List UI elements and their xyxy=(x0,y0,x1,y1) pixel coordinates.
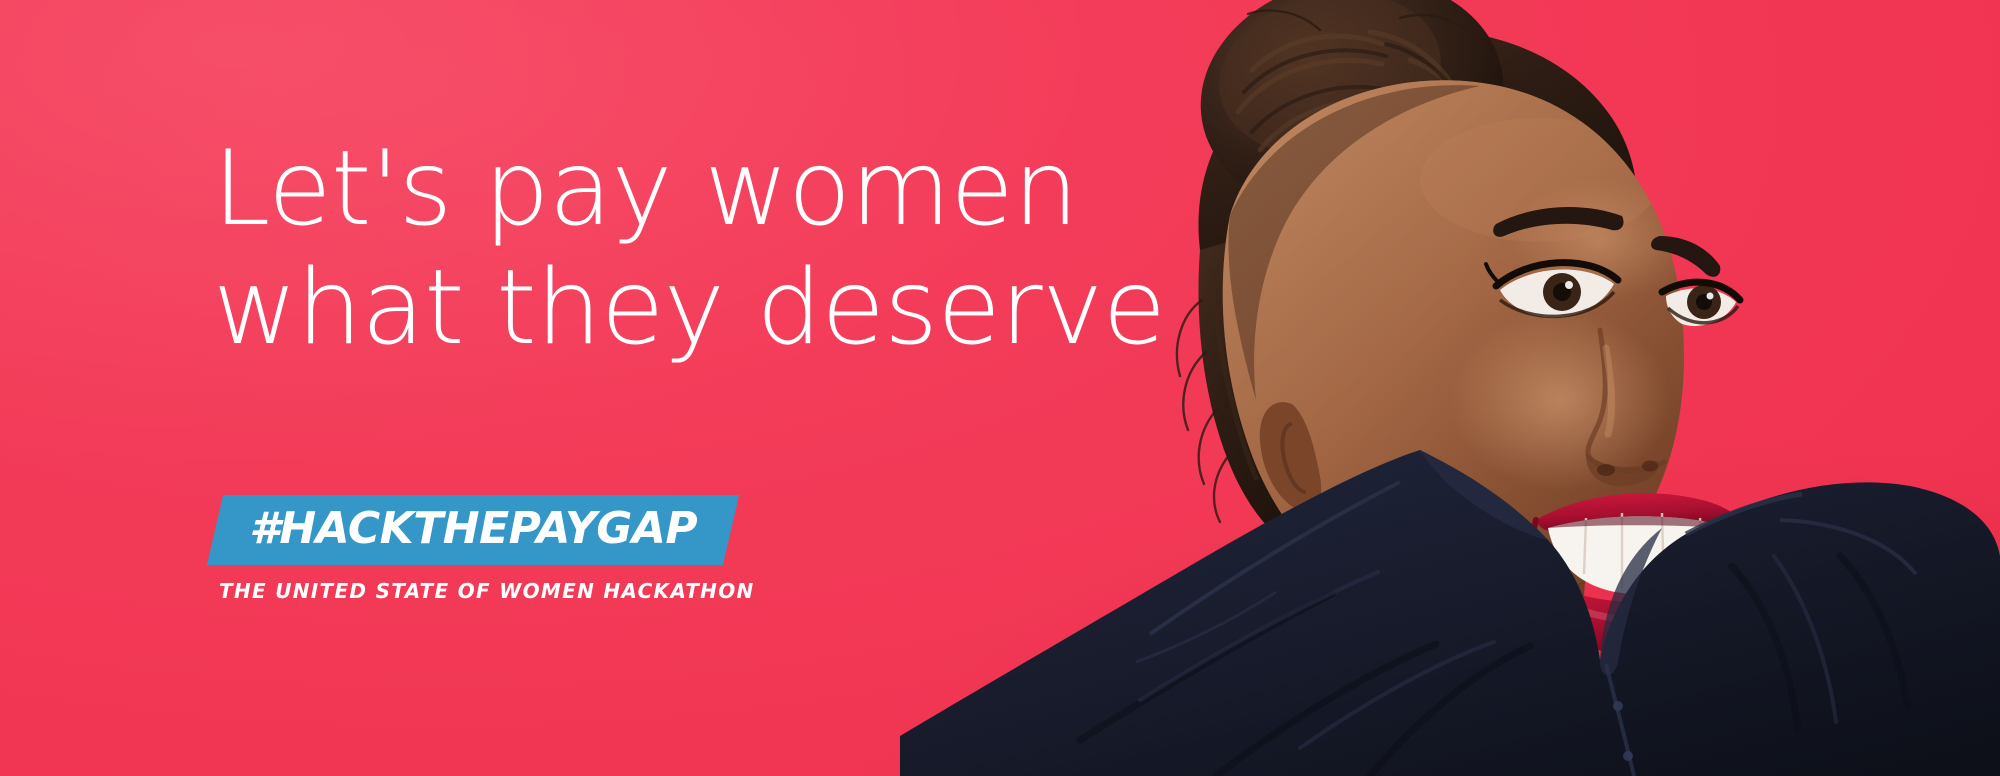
shoulder-seam-right xyxy=(1780,520,1916,574)
hackthepaygap-logo[interactable]: #HACKTHEPAYGAP THE UNITED STATE OF WOMEN… xyxy=(215,495,835,603)
page-title: Let's pay women what they deserve xyxy=(213,130,1193,369)
teeth xyxy=(1548,516,1740,594)
headline-line-1: Let's pay women xyxy=(213,130,1193,249)
headline-line-2: what they deserve xyxy=(213,249,1193,368)
logo-tagline: THE UNITED STATE OF WOMEN HACKATHON xyxy=(219,579,835,603)
face xyxy=(1223,80,1684,623)
hair-back xyxy=(1198,29,1637,268)
shirt-button xyxy=(1613,701,1623,711)
shoulder-seam-left xyxy=(1150,482,1400,634)
upper-lip xyxy=(1536,493,1744,531)
collar-left xyxy=(1420,450,1548,540)
headline-block: Let's pay women what they deserve xyxy=(213,130,1193,369)
mouth xyxy=(1533,493,1744,656)
logo-wordmark: #HACKTHEPAYGAP xyxy=(249,506,697,552)
logo-slab-shape: #HACKTHEPAYGAP xyxy=(207,495,739,565)
shirt xyxy=(900,450,2000,776)
collar-seam xyxy=(1686,494,1802,534)
neck xyxy=(1330,470,1590,695)
eyebrow-right xyxy=(1651,236,1720,277)
eye-right xyxy=(1662,282,1740,326)
hair-bun xyxy=(1183,0,1520,236)
eyebrow-left xyxy=(1493,207,1623,237)
ear xyxy=(1260,402,1321,512)
campaign-banner: Let's pay women what they deserve #HACKT… xyxy=(0,0,2000,776)
shirt-button xyxy=(1623,751,1633,761)
woman-portrait-photo xyxy=(900,0,2000,776)
lower-lip xyxy=(1546,574,1739,656)
nose xyxy=(1588,330,1664,471)
shirt-placket xyxy=(1606,664,1634,776)
hair-side xyxy=(1198,222,1314,560)
eye-left xyxy=(1486,263,1618,318)
background-sheen xyxy=(0,0,2000,776)
collar-right xyxy=(1600,528,1662,675)
